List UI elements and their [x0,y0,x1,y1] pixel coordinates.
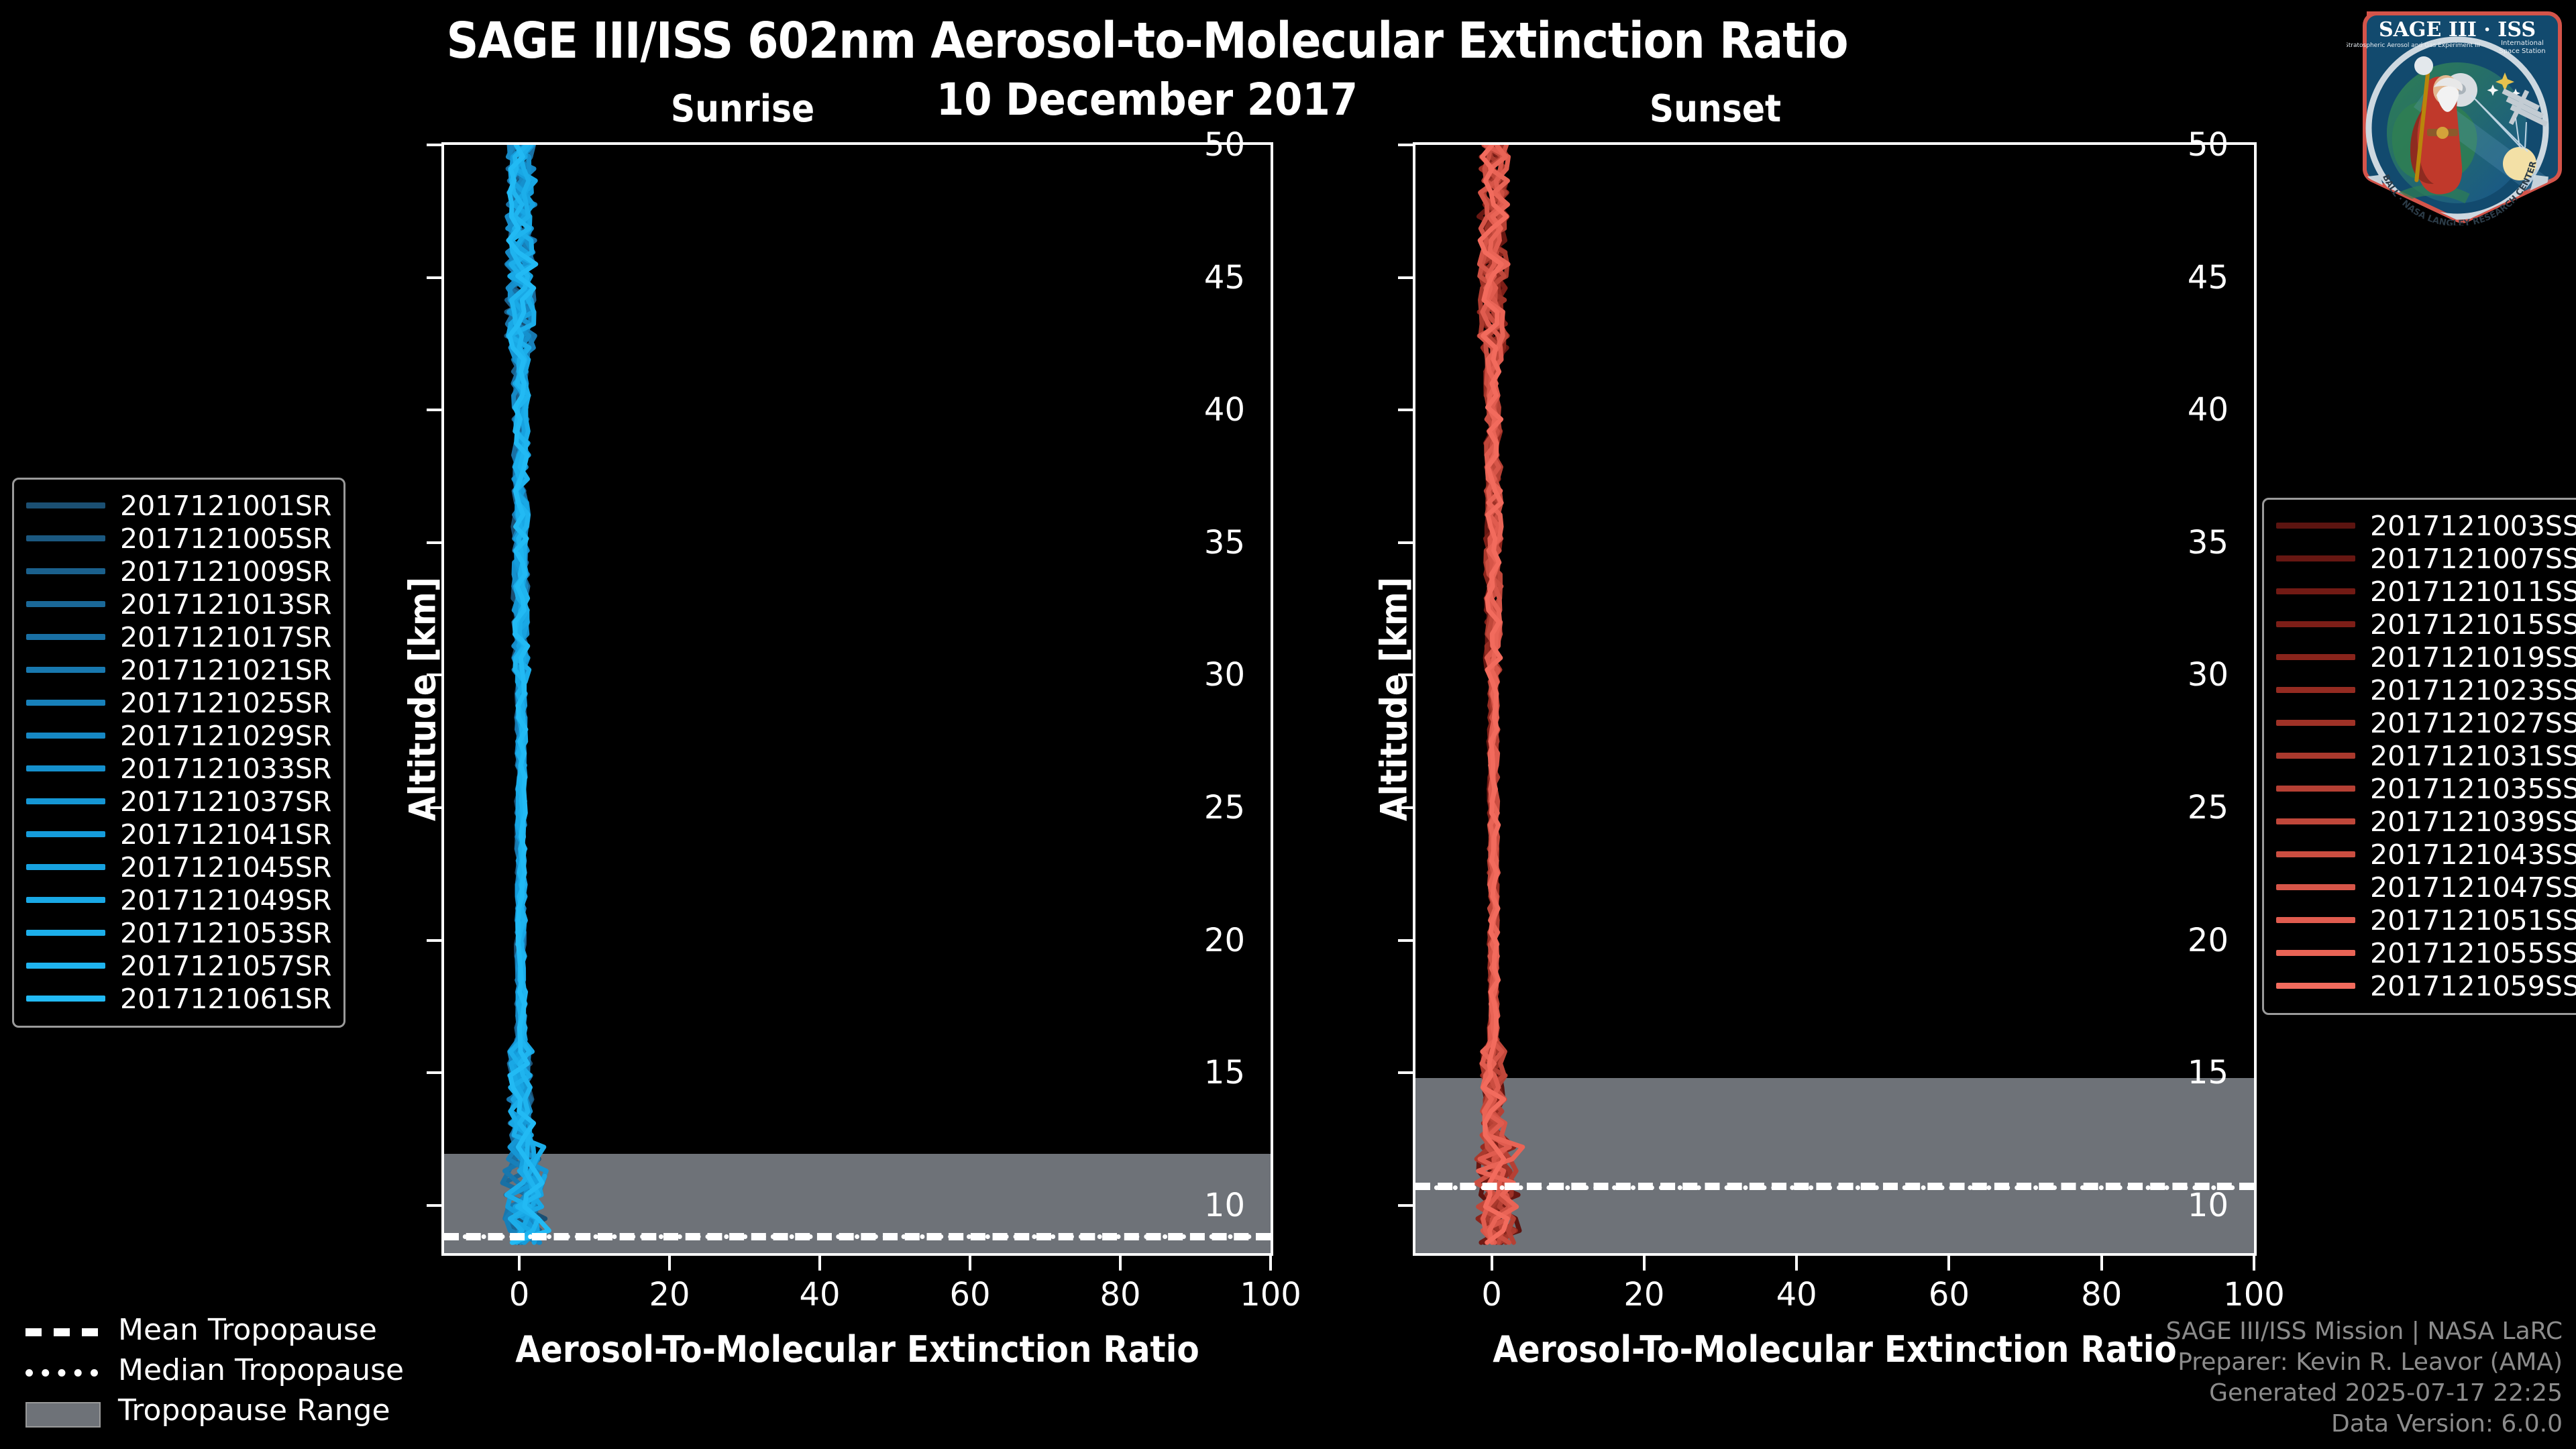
legend-color-swatch [26,700,105,706]
legend-color-swatch [26,864,105,870]
legend-item-label: 2017121021SR [120,654,331,686]
y-tick-label: 40 [2188,391,2229,429]
legend-color-swatch [26,996,105,1002]
legend-color-swatch [2276,818,2355,824]
chart-sunset: Aerosol-To-Molecular Extinction Ratio Al… [1413,142,2257,1256]
y-tick [427,541,444,544]
x-tick [969,1253,971,1271]
x-tick-label: 40 [799,1276,840,1313]
y-tick [427,1071,444,1074]
y-tick-label: 25 [2188,789,2229,826]
y-tick-label: 50 [1204,126,1245,164]
y-tick-label: 40 [1204,391,1245,429]
legend-item[interactable]: 2017121055SS [2276,936,2576,969]
x-tick [1119,1253,1122,1271]
y-tick [1398,674,1415,676]
legend-item-label: 2017121013SR [120,588,331,621]
legend-label-tropopause-range: Tropopause Range [118,1393,390,1428]
y-tick-label: 35 [2188,524,2229,561]
median-tropopause-line [444,1234,1271,1239]
legend-item-label: 2017121037SR [120,786,331,818]
legend-sunset[interactable]: 2017121003SS2017121007SS2017121011SS2017… [2262,498,2576,1015]
legend-item-tropopause-range: Tropopause Range [13,1390,404,1430]
y-tick-label: 15 [1204,1054,1245,1091]
x-tick [1795,1253,1798,1271]
legend-color-swatch [2276,917,2355,923]
y-tick [427,409,444,411]
legend-color-swatch [2276,654,2355,660]
legend-color-swatch [2276,851,2355,857]
tropopause-legend: Mean Tropopause Median Tropopause Tropop… [13,1309,404,1430]
x-axis-title-sunset: Aerosol-To-Molecular Extinction Ratio [1415,1328,2254,1371]
legend-item-label: 2017121035SS [2370,773,2576,805]
legend-item-label: 2017121061SR [120,983,331,1015]
x-tick [668,1253,671,1271]
panel-title-sunrise: Sunrise [632,87,853,131]
median-tropopause-line [1415,1185,2254,1190]
x-tick-label: 60 [1929,1276,1970,1313]
x-tick [1491,1253,1493,1271]
dotted-line-icon [25,1362,98,1378]
credit-data-version: Data Version: 6.0.0 [2166,1409,2563,1440]
y-tick-label: 50 [2188,126,2229,164]
legend-item[interactable]: 2017121021SR [26,653,331,686]
x-tick [1643,1253,1646,1271]
series-curves [444,145,1271,1253]
legend-color-swatch [26,601,105,607]
y-tick [1398,806,1415,809]
y-tick-label: 45 [1204,259,1245,297]
x-tick-label: 0 [1481,1276,1502,1313]
legend-item[interactable]: 2017121033SR [26,752,331,785]
legend-item[interactable]: 2017121047SS [2276,871,2576,904]
x-tick [818,1253,821,1271]
legend-item-label: 2017121053SR [120,917,331,949]
sage-iii-iss-logo-icon: SAGE III · ISS Stratospheric Aerosol and… [2347,4,2568,225]
legend-color-swatch [26,897,105,903]
legend-item-label: 2017121009SR [120,555,331,588]
legend-item[interactable]: 2017121027SS [2276,706,2576,739]
plot-area-sunset [1415,145,2254,1253]
credit-preparer: Preparer: Kevin R. Leavor (AMA) [2166,1347,2563,1378]
legend-item[interactable]: 2017121029SR [26,719,331,752]
y-tick [1398,409,1415,411]
legend-item-label: 2017121043SS [2370,839,2576,871]
x-tick-label: 100 [1240,1276,1301,1313]
legend-color-swatch [26,502,105,508]
legend-item-label: 2017121029SR [120,720,331,752]
dashed-line-icon [25,1322,98,1338]
y-tick-label: 35 [1204,524,1245,561]
x-tick-label: 80 [1099,1276,1140,1313]
y-tick-label: 15 [2188,1054,2229,1091]
legend-item[interactable]: 2017121001SR [26,489,331,522]
series-curves [1415,145,2254,1253]
legend-item[interactable]: 2017121031SS [2276,739,2576,772]
legend-color-swatch [2276,523,2355,529]
legend-item[interactable]: 2017121053SR [26,916,331,949]
legend-item[interactable]: 2017121041SR [26,818,331,851]
x-tick [2253,1253,2255,1271]
legend-item-label: 2017121027SS [2370,707,2576,739]
legend-label-median-tropopause: Median Tropopause [118,1353,404,1387]
legend-color-swatch [26,930,105,936]
legend-item[interactable]: 2017121015SS [2276,608,2576,641]
logo-subtitle-right-1: International [2501,40,2544,47]
legend-item[interactable]: 2017121019SS [2276,641,2576,674]
legend-item[interactable]: 2017121043SS [2276,838,2576,871]
legend-color-swatch [26,667,105,673]
legend-item-label: 2017121031SS [2370,740,2576,772]
legend-item[interactable]: 2017121007SS [2276,542,2576,575]
y-tick-label: 10 [2188,1187,2229,1224]
legend-item-label: 2017121025SR [120,687,331,719]
legend-color-swatch [2276,983,2355,989]
y-tick [1398,1204,1415,1207]
date-title: 10 December 2017 [0,74,2294,125]
legend-item-label: 2017121039SS [2370,806,2576,838]
legend-item[interactable]: 2017121035SS [2276,772,2576,805]
y-tick-label: 45 [2188,259,2229,297]
logo-title-text: SAGE III · ISS [2379,18,2536,42]
legend-item-label: 2017121007SS [2370,543,2576,575]
legend-item-label: 2017121051SS [2370,904,2576,936]
legend-color-swatch [2276,588,2355,594]
legend-color-swatch [26,568,105,574]
x-tick [1269,1253,1272,1271]
x-tick [518,1253,521,1271]
y-tick-label: 30 [1204,656,1245,694]
x-tick-label: 40 [1776,1276,1817,1313]
legend-color-swatch [2276,753,2355,759]
legend-item[interactable]: 2017121025SR [26,686,331,719]
legend-item-label: 2017121011SS [2370,576,2576,608]
legend-item-label: 2017121059SS [2370,970,2576,1002]
x-tick [1947,1253,1950,1271]
legend-item-label: 2017121003SS [2370,510,2576,542]
y-tick [427,806,444,809]
y-tick [1398,541,1415,544]
legend-item-label: 2017121045SR [120,851,331,883]
y-tick [1398,276,1415,279]
logo-subtitle-left: Stratospheric Aerosol and Gas Experiment… [2347,42,2480,49]
legend-item[interactable]: 2017121045SR [26,851,331,883]
y-tick [427,276,444,279]
y-tick-label: 25 [1204,789,1245,826]
logo-subtitle-right-2: Space Station [2499,48,2545,55]
legend-color-swatch [26,765,105,771]
page-title: SAGE III/ISS 602nm Aerosol-to-Molecular … [0,12,2294,70]
legend-item[interactable]: 2017121057SR [26,949,331,982]
x-tick-label: 20 [1623,1276,1664,1313]
legend-item-label: 2017121015SS [2370,608,2576,641]
y-axis-title-sunset: Altitude [km] [1373,577,1415,821]
legend-item[interactable]: 2017121017SR [26,621,331,653]
legend-color-swatch [26,798,105,804]
legend-item[interactable]: 2017121005SR [26,522,331,555]
legend-label-mean-tropopause: Mean Tropopause [118,1313,377,1347]
legend-item-label: 2017121041SR [120,818,331,851]
legend-item[interactable]: 2017121009SR [26,555,331,588]
panel-title-sunset: Sunset [1605,87,1826,131]
y-axis-title-sunrise: Altitude [km] [401,577,443,821]
x-tick-label: 0 [509,1276,530,1313]
y-tick-label: 20 [2188,922,2229,959]
legend-color-swatch [26,733,105,739]
y-tick [427,674,444,676]
y-tick [1398,144,1415,146]
x-tick-label: 80 [2081,1276,2122,1313]
legend-sunrise[interactable]: 2017121001SR2017121005SR2017121009SR2017… [12,478,345,1028]
legend-item[interactable]: 2017121011SS [2276,575,2576,608]
legend-color-swatch [2276,786,2355,792]
legend-item-label: 2017121019SS [2370,641,2576,674]
legend-item-label: 2017121033SR [120,753,331,785]
legend-color-swatch [26,535,105,541]
legend-item-label: 2017121023SS [2370,674,2576,706]
legend-item[interactable]: 2017121051SS [2276,904,2576,936]
legend-item-label: 2017121017SR [120,621,331,653]
x-tick-label: 20 [649,1276,690,1313]
legend-item[interactable]: 2017121003SS [2276,509,2576,542]
legend-item[interactable]: 2017121049SR [26,883,331,916]
legend-color-swatch [26,634,105,640]
credit-mission: SAGE III/ISS Mission | NASA LaRC [2166,1316,2563,1347]
y-tick-label: 10 [1204,1187,1245,1224]
legend-item[interactable]: 2017121037SR [26,785,331,818]
legend-item[interactable]: 2017121039SS [2276,805,2576,838]
legend-item-label: 2017121055SS [2370,937,2576,969]
legend-item[interactable]: 2017121059SS [2276,969,2576,1002]
legend-item[interactable]: 2017121023SS [2276,674,2576,706]
y-tick [1398,939,1415,942]
chart-sunrise: Aerosol-To-Molecular Extinction Ratio Al… [441,142,1273,1256]
legend-item-label: 2017121047SS [2370,871,2576,904]
legend-item[interactable]: 2017121061SR [26,982,331,1015]
legend-color-swatch [2276,555,2355,561]
legend-item[interactable]: 2017121013SR [26,588,331,621]
y-tick [427,939,444,942]
legend-color-swatch [26,831,105,837]
y-tick-label: 20 [1204,922,1245,959]
x-tick-label: 100 [2223,1276,2285,1313]
y-tick [427,1204,444,1207]
legend-item-label: 2017121057SR [120,950,331,982]
legend-item-median-tropopause: Median Tropopause [13,1350,404,1390]
legend-item-label: 2017121001SR [120,490,331,522]
legend-color-swatch [2276,720,2355,726]
credit-generated: Generated 2025-07-17 22:25 [2166,1378,2563,1409]
y-tick [1398,1071,1415,1074]
x-axis-title-sunrise: Aerosol-To-Molecular Extinction Ratio [444,1328,1271,1371]
legend-item-label: 2017121049SR [120,884,331,916]
y-tick [427,144,444,146]
legend-item-label: 2017121005SR [120,523,331,555]
y-tick-label: 30 [2188,656,2229,694]
legend-color-swatch [2276,950,2355,956]
legend-item-mean-tropopause: Mean Tropopause [13,1309,404,1350]
x-tick-label: 60 [949,1276,990,1313]
plot-area-sunrise [444,145,1271,1253]
legend-color-swatch [2276,884,2355,890]
legend-color-swatch [2276,621,2355,627]
legend-color-swatch [26,963,105,969]
x-tick [2100,1253,2103,1271]
filled-band-icon [25,1402,98,1418]
credits-block: SAGE III/ISS Mission | NASA LaRC Prepare… [2166,1316,2563,1440]
legend-color-swatch [2276,687,2355,693]
